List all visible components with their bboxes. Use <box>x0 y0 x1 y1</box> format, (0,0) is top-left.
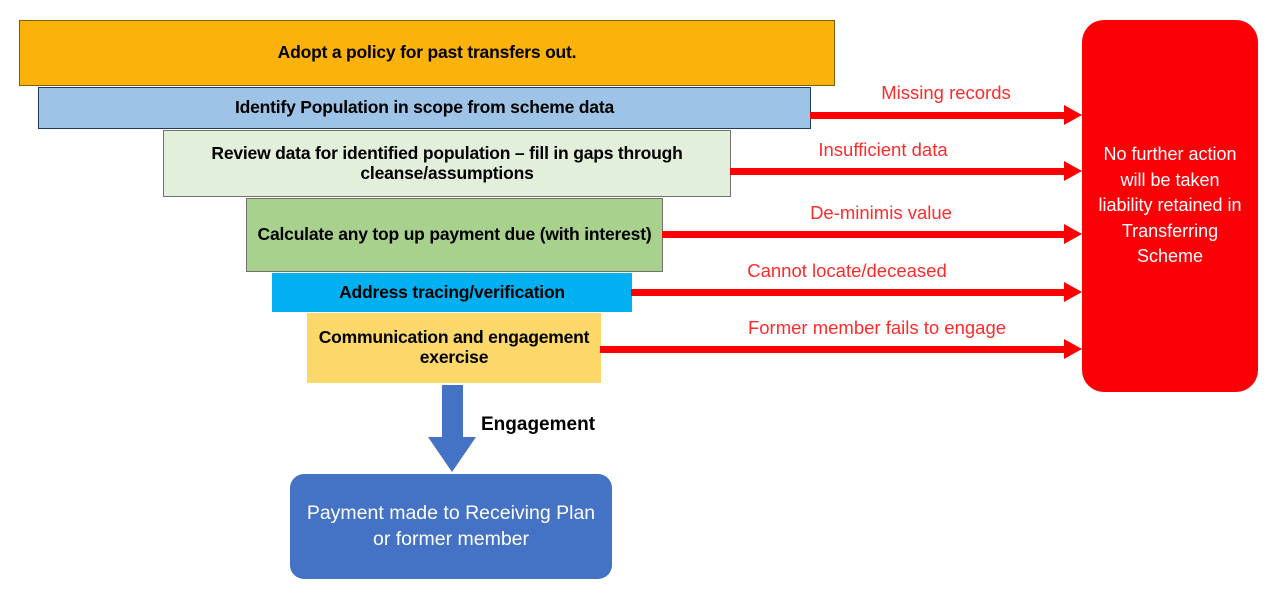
exit-arrow-label-fails-to-engage: Former member fails to engage <box>703 317 1051 339</box>
arrow-head-icon <box>1064 282 1082 302</box>
funnel-step-label: Address tracing/verification <box>339 283 565 303</box>
arrow-shaft <box>600 346 1066 353</box>
terminal-no-further-action-box: No further action will be taken liabilit… <box>1082 20 1258 392</box>
funnel-step-label: Review data for identified population – … <box>170 144 724 183</box>
diagram-canvas: Adopt a policy for past transfers out. I… <box>0 0 1280 611</box>
funnel-step-communication: Communication and engagement exercise <box>307 313 601 383</box>
arrow-shaft <box>730 168 1066 175</box>
outcome-box-label: Payment made to Receiving Plan or former… <box>300 501 602 552</box>
funnel-step-label: Identify Population in scope from scheme… <box>235 98 614 118</box>
funnel-step-label: Communication and engagement exercise <box>313 328 595 367</box>
exit-arrow-missing-records <box>810 112 1082 119</box>
funnel-step-address-tracing: Address tracing/verification <box>272 273 632 312</box>
exit-arrow-de-minimis-value <box>662 231 1082 238</box>
arrow-head-icon <box>1064 224 1082 244</box>
engagement-down-arrow-icon <box>428 385 476 472</box>
funnel-step-adopt-policy: Adopt a policy for past transfers out. <box>19 20 835 86</box>
arrow-shaft <box>810 112 1066 119</box>
exit-arrow-cannot-locate <box>631 289 1082 296</box>
exit-arrow-insufficient-data <box>730 168 1082 175</box>
arrow-head-icon <box>1064 161 1082 181</box>
funnel-step-label: Calculate any top up payment due (with i… <box>258 225 652 245</box>
exit-arrow-label-missing-records: Missing records <box>846 82 1046 104</box>
arrow-head-icon <box>1064 339 1082 359</box>
arrow-shaft <box>442 385 463 438</box>
exit-arrow-label-insufficient-data: Insufficient data <box>788 139 978 161</box>
funnel-step-calculate-top-up: Calculate any top up payment due (with i… <box>246 198 663 272</box>
engagement-arrow-label: Engagement <box>481 414 595 436</box>
arrow-shaft <box>662 231 1066 238</box>
arrow-head-icon <box>428 437 476 472</box>
funnel-step-identify-population: Identify Population in scope from scheme… <box>38 87 811 129</box>
arrow-head-icon <box>1064 105 1082 125</box>
exit-arrow-label-cannot-locate: Cannot locate/deceased <box>712 260 982 282</box>
arrow-shaft <box>631 289 1066 296</box>
exit-arrow-label-de-minimis-value: De-minimis value <box>785 202 977 224</box>
funnel-step-review-data: Review data for identified population – … <box>163 130 731 197</box>
outcome-payment-made-box: Payment made to Receiving Plan or former… <box>290 474 612 579</box>
funnel-step-label: Adopt a policy for past transfers out. <box>278 43 577 63</box>
terminal-box-label: No further action will be taken liabilit… <box>1092 142 1248 270</box>
exit-arrow-fails-to-engage <box>600 346 1082 353</box>
